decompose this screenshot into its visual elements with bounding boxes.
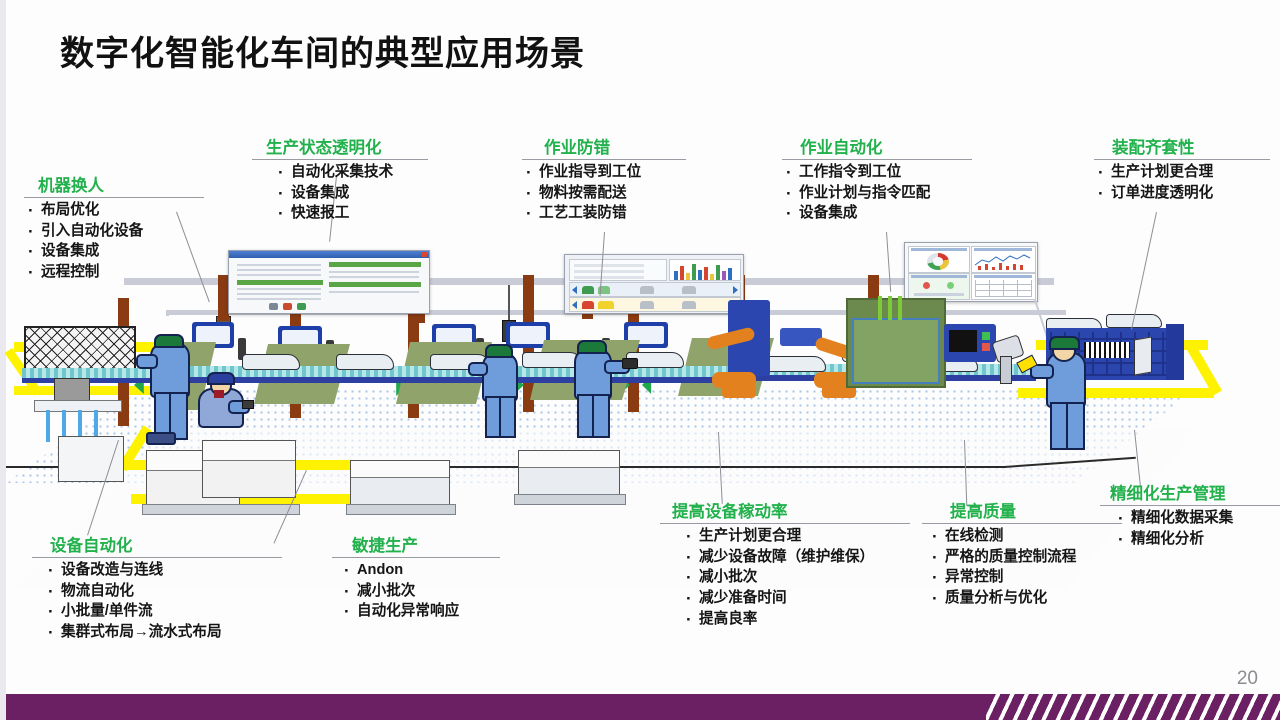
- booth-light-bar: [878, 296, 882, 320]
- list-item: 精细化分析: [1114, 529, 1280, 550]
- list-item: 作业计划与指令匹配: [782, 183, 972, 204]
- trend-line-icon: [974, 253, 1033, 271]
- callout-rule: [782, 159, 972, 160]
- gauge-icon: [927, 253, 949, 270]
- monitor-screen: [196, 326, 230, 344]
- callout-title: 设备自动化: [50, 532, 282, 556]
- footer-bar: [6, 694, 1280, 720]
- dashboard-kv-panel: [569, 259, 667, 281]
- callout-rule: [522, 159, 686, 160]
- mesh-conveyor-cage: [24, 326, 136, 372]
- worker-powertool: [622, 358, 638, 369]
- inspection-arm: [1000, 356, 1012, 384]
- panel-trend: [971, 246, 1036, 273]
- callout-improve-quality: 提高质量 在线检测 严格的质量控制流程 异常控制 质量分析与优化: [922, 498, 1122, 609]
- list-item: 严格的质量控制流程: [928, 547, 1122, 568]
- inspection-booth-window: [852, 318, 940, 384]
- section-header: [329, 262, 421, 267]
- callout-title: 机器换人: [38, 172, 204, 196]
- callout-rule: [1094, 159, 1270, 160]
- list-item: 生产计划更合理: [1094, 162, 1270, 183]
- list-item: 减少准备时间: [682, 588, 910, 609]
- window-titlebar: [229, 251, 429, 258]
- form-field-row: [237, 269, 321, 271]
- part-on-line: [242, 354, 300, 370]
- callout-title: 敏捷生产: [352, 532, 500, 556]
- callout-items: 生产计划更合理 订单进度透明化: [1094, 162, 1270, 203]
- list-item: 异常控制: [928, 567, 1122, 588]
- callout-items: 工作指令到工位 作业计划与指令匹配 设备集成: [782, 162, 972, 224]
- dashboard-lane-row: [569, 282, 741, 297]
- callout-items: 作业指导到工位 物料按需配送 工艺工装防错: [522, 162, 686, 224]
- list-item: 订单进度透明化: [1094, 183, 1270, 204]
- callout-rule: [252, 159, 428, 160]
- callout-items: Andon 减小批次 自动化异常响应: [340, 560, 500, 622]
- status-light-red: [923, 282, 930, 289]
- form-field-row: [237, 293, 321, 295]
- callout-rule: [24, 197, 204, 198]
- part-icon: [682, 286, 696, 294]
- crate-lid: [351, 461, 449, 478]
- worker-cap: [154, 334, 184, 348]
- callout-improve-equipment-utilization: 提高设备稼动率 生产计划更合理 减少设备故障（维护维保） 减小批次 减少准备时间…: [660, 498, 910, 630]
- worker-cap: [577, 340, 607, 354]
- bar: [722, 271, 726, 280]
- worker-leg: [1066, 402, 1085, 450]
- callout-items: 精细化数据采集 精细化分析: [1114, 508, 1280, 549]
- worker-mid-2: [564, 338, 628, 438]
- worker-collar: [214, 390, 224, 398]
- list-item: 质量分析与优化: [928, 588, 1122, 609]
- crate-left-2: [202, 440, 296, 498]
- kv-row: [574, 270, 644, 273]
- part-on-line: [336, 354, 394, 370]
- hmi-button-red[interactable]: [982, 343, 990, 351]
- callout-title: 提高设备稼动率: [672, 498, 910, 522]
- callout-operation-error-proofing: 作业防错 作业指导到工位 物料按需配送 工艺工装防错: [522, 134, 686, 224]
- bar: [686, 273, 690, 280]
- list-item: 快速报工: [274, 203, 428, 224]
- dashboard-bar-chart: [669, 259, 741, 281]
- callout-rule: [332, 557, 500, 558]
- hmi-screen: [949, 330, 977, 352]
- part-icon: [640, 301, 654, 309]
- worker-cap: [1049, 336, 1080, 350]
- kv-row: [574, 276, 644, 279]
- form-field-row: [329, 271, 419, 273]
- worker-torso: [482, 352, 518, 402]
- page-number: 20: [1237, 668, 1258, 690]
- callout-title: 作业防错: [544, 134, 686, 158]
- bar: [716, 265, 720, 280]
- bar: [704, 267, 708, 280]
- list-item: 提高良率: [682, 609, 910, 630]
- bar: [698, 270, 702, 280]
- panel-title-band: [911, 275, 967, 278]
- section-header: [237, 280, 323, 285]
- callout-equipment-automation: 设备自动化 设备改造与连线 物流自动化 小批量/单件流 集群式布局→流水式布局: [32, 532, 282, 643]
- list-item: 物流自动化: [44, 581, 282, 602]
- worker-leg: [592, 394, 610, 438]
- callout-rule: [660, 523, 910, 524]
- list-item: 布局优化: [24, 200, 204, 221]
- toolbar-button[interactable]: [283, 303, 292, 310]
- worker-scanning: [1032, 338, 1102, 450]
- bar: [674, 271, 678, 280]
- display-production-report: [228, 250, 430, 314]
- list-item: 自动化异常响应: [340, 601, 500, 622]
- callout-title: 精细化生产管理: [1110, 480, 1280, 504]
- slide-canvas: 数字化智能化车间的典型应用场景: [0, 0, 1280, 720]
- callout-items: 生产计划更合理 减少设备故障（维护维保） 减小批次 减少准备时间 提高良率: [682, 526, 910, 630]
- worker-torso: [574, 348, 612, 400]
- form-field-row: [237, 274, 321, 276]
- pallet-mid-2: [514, 494, 626, 505]
- page-title: 数字化智能化车间的典型应用场景: [60, 26, 585, 75]
- panel-title-band: [911, 248, 967, 251]
- utility-drop-1: [46, 410, 50, 442]
- worker-leg: [499, 396, 516, 438]
- worker-cap: [207, 372, 235, 385]
- worker-seated: [192, 372, 248, 432]
- bin-door: [1134, 336, 1152, 375]
- display-operation-dashboard: [564, 254, 744, 314]
- worker-arm: [136, 354, 158, 369]
- warn-icon: [598, 301, 614, 309]
- display-oee-dashboard: [904, 242, 1038, 302]
- equipment-cabinet-left: [58, 436, 124, 482]
- pallet-left: [142, 504, 300, 515]
- utility-drop-4: [94, 410, 98, 438]
- hmi-panel[interactable]: [944, 324, 996, 362]
- list-item: 设备改造与连线: [44, 560, 282, 581]
- list-item: 设备集成: [274, 183, 428, 204]
- part-icon: [582, 286, 594, 294]
- indicator-label-row: [914, 293, 964, 296]
- worker-shoe: [146, 432, 176, 445]
- list-item: 工艺工装防错: [522, 203, 686, 224]
- crate-mid-2: [518, 450, 620, 498]
- list-item: 精细化数据采集: [1114, 508, 1280, 529]
- part-icon: [640, 286, 654, 294]
- list-item: 集群式布局→流水式布局: [44, 622, 282, 643]
- booth-light-bar: [888, 296, 892, 320]
- status-light-green: [947, 282, 954, 289]
- callout-rule: [1100, 505, 1280, 506]
- callout-items: 设备改造与连线 物流自动化 小批量/单件流 集群式布局→流水式布局: [44, 560, 282, 643]
- list-item: 作业指导到工位: [522, 162, 686, 183]
- panel-title-band: [974, 275, 1032, 278]
- list-item: 减少设备故障（维护维保）: [682, 547, 910, 568]
- list-item: 远程控制: [24, 262, 204, 283]
- list-item: 工作指令到工位: [782, 162, 972, 183]
- list-item: 小批量/单件流: [44, 601, 282, 622]
- display-1-frame: [166, 312, 169, 316]
- lane-prev-arrow-icon[interactable]: [572, 301, 577, 309]
- lane-next-arrow-icon[interactable]: [733, 286, 738, 294]
- list-item: 减小批次: [340, 581, 500, 602]
- robot-arm-1-base: [722, 384, 756, 398]
- crate-lid: [519, 451, 619, 468]
- section-header: [329, 282, 421, 287]
- form-field-row: [329, 291, 419, 293]
- list-item: Andon: [340, 560, 500, 581]
- worker-mid-1: [472, 342, 528, 438]
- list-item: 减小批次: [682, 567, 910, 588]
- list-item: 物料按需配送: [522, 183, 686, 204]
- callout-robot-replacement: 机器换人 布局优化 引入自动化设备 设备集成 远程控制: [24, 172, 204, 283]
- kv-row: [574, 264, 644, 267]
- form-field-row: [237, 288, 321, 290]
- bar: [680, 266, 684, 280]
- callout-items: 在线检测 严格的质量控制流程 异常控制 质量分析与优化: [928, 526, 1122, 609]
- worker-cap: [485, 344, 513, 358]
- callout-production-status-transparency: 生产状态透明化 自动化采集技术 设备集成 快速报工: [252, 134, 428, 224]
- callout-title: 提高质量: [950, 498, 1122, 522]
- booth-light-bar: [898, 296, 902, 320]
- form-field-row: [237, 298, 321, 300]
- list-item: 设备集成: [24, 241, 204, 262]
- part-on-line: [766, 356, 826, 372]
- worker-torso: [150, 342, 190, 398]
- pallet-mid-1: [346, 504, 456, 515]
- form-field-row: [329, 276, 419, 278]
- worker-arm: [468, 362, 488, 376]
- callout-assembly-kitting: 装配齐套性 生产计划更合理 订单进度透明化: [1094, 134, 1270, 203]
- form-field-row: [237, 264, 321, 266]
- part-icon: [682, 301, 696, 309]
- material-bin-side: [1166, 324, 1184, 380]
- list-item: 引入自动化设备: [24, 221, 204, 242]
- toolbar-button[interactable]: [297, 303, 306, 310]
- list-item: 在线检测: [928, 526, 1122, 547]
- panel-title-band: [974, 248, 1032, 251]
- worker-hand-tool: [242, 400, 254, 409]
- panel-indicators: [908, 273, 970, 300]
- tool-balancer-2: [508, 285, 510, 321]
- callout-agile-production: 敏捷生产 Andon 减小批次 自动化异常响应: [332, 532, 500, 622]
- callout-items: 自动化采集技术 设备集成 快速报工: [274, 162, 428, 224]
- callout-fine-grained-production-management: 精细化生产管理 精细化数据采集 精细化分析: [1100, 480, 1280, 549]
- crate-mid-1: [350, 460, 450, 508]
- callout-title: 装配齐套性: [1112, 134, 1270, 158]
- data-table-grid: [975, 280, 1032, 297]
- panel-table: [971, 273, 1036, 300]
- list-item: 生产计划更合理: [682, 526, 910, 547]
- dashboard-lane-row: [569, 297, 741, 312]
- hmi-button-green[interactable]: [982, 332, 990, 340]
- bar: [692, 264, 696, 280]
- worker-left: [136, 336, 200, 442]
- close-icon[interactable]: [422, 252, 427, 257]
- callout-items: 布局优化 引入自动化设备 设备集成 远程控制: [24, 200, 204, 283]
- list-item: 自动化采集技术: [274, 162, 428, 183]
- list-item: 设备集成: [782, 203, 972, 224]
- lane-prev-arrow-icon[interactable]: [572, 286, 577, 294]
- bar: [728, 268, 732, 280]
- callout-rule: [32, 557, 282, 558]
- toolbar-button[interactable]: [269, 303, 278, 310]
- callout-rule: [922, 523, 1122, 524]
- panel-gauge: [908, 246, 970, 273]
- crate-lid: [203, 441, 295, 461]
- callout-title: 生产状态透明化: [266, 134, 428, 158]
- bar: [710, 274, 714, 280]
- callout-operation-automation: 作业自动化 工作指令到工位 作业计划与指令匹配 设备集成: [782, 134, 972, 224]
- footer-chevron-pattern: [986, 694, 1280, 720]
- callout-title: 作业自动化: [800, 134, 972, 158]
- alert-icon: [582, 301, 594, 309]
- conveyor-rail-main: [174, 377, 736, 383]
